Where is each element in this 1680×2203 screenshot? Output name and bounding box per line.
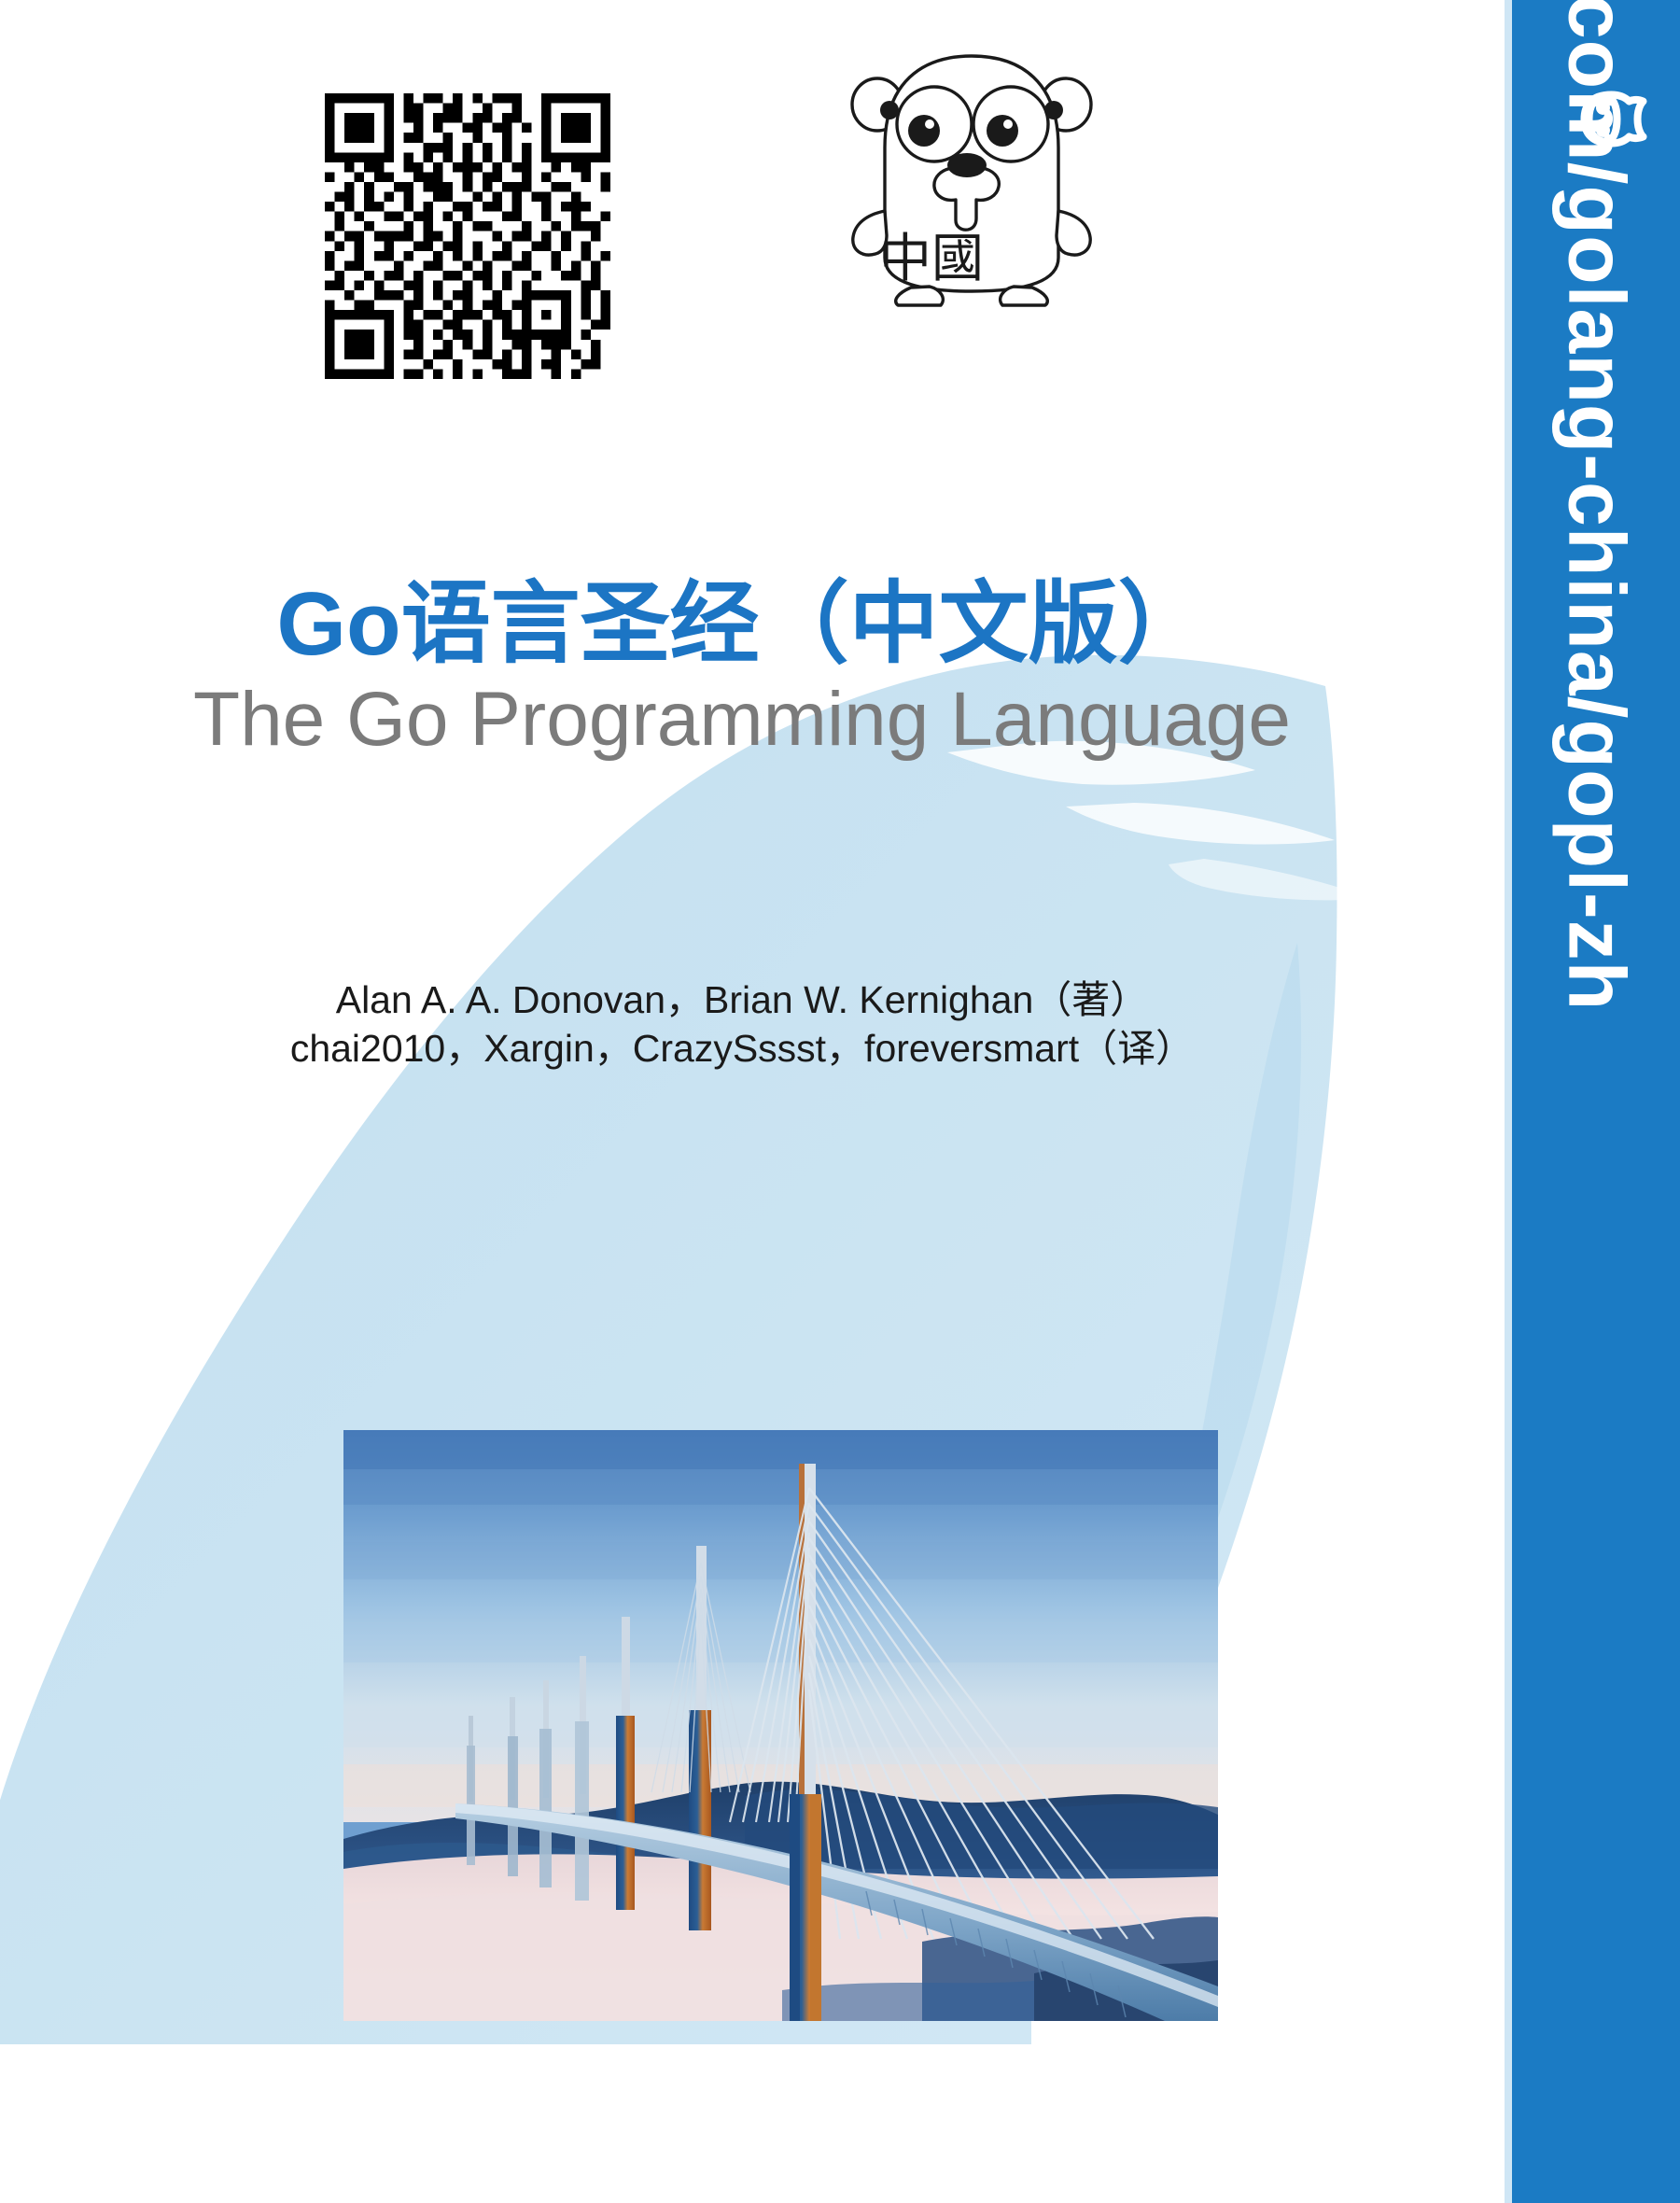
qr-code[interactable] xyxy=(325,93,610,379)
book-cover: 中國 Go语言圣经（中文版） The Go Programming Langua… xyxy=(0,0,1680,2203)
title-block: Go语言圣经（中文版） The Go Programming Language xyxy=(0,577,1484,762)
repository-url[interactable]: http://github.com/golang-china/gopl-zh xyxy=(1550,0,1643,1190)
go-gopher-mascot: 中國 xyxy=(821,37,1120,308)
authors-translators: chai2010，Xargin，CrazySssst，foreversmart（… xyxy=(0,1024,1484,1073)
millau-viaduct-bridge-photo xyxy=(343,1430,1218,2021)
github-sidebar: http://github.com/golang-china/gopl-zh xyxy=(1512,0,1680,2203)
authors-block: Alan A. A. Donovan，Brian W. Kernighan（著）… xyxy=(0,975,1484,1073)
page-title-chinese: Go语言圣经（中文版） xyxy=(0,577,1484,672)
sidebar-edge-stripe xyxy=(1505,0,1512,2203)
page-title-english: The Go Programming Language xyxy=(0,678,1484,762)
authors-original: Alan A. A. Donovan，Brian W. Kernighan（著） xyxy=(0,975,1484,1024)
gopher-belly-text-1: 中國 xyxy=(879,229,984,289)
